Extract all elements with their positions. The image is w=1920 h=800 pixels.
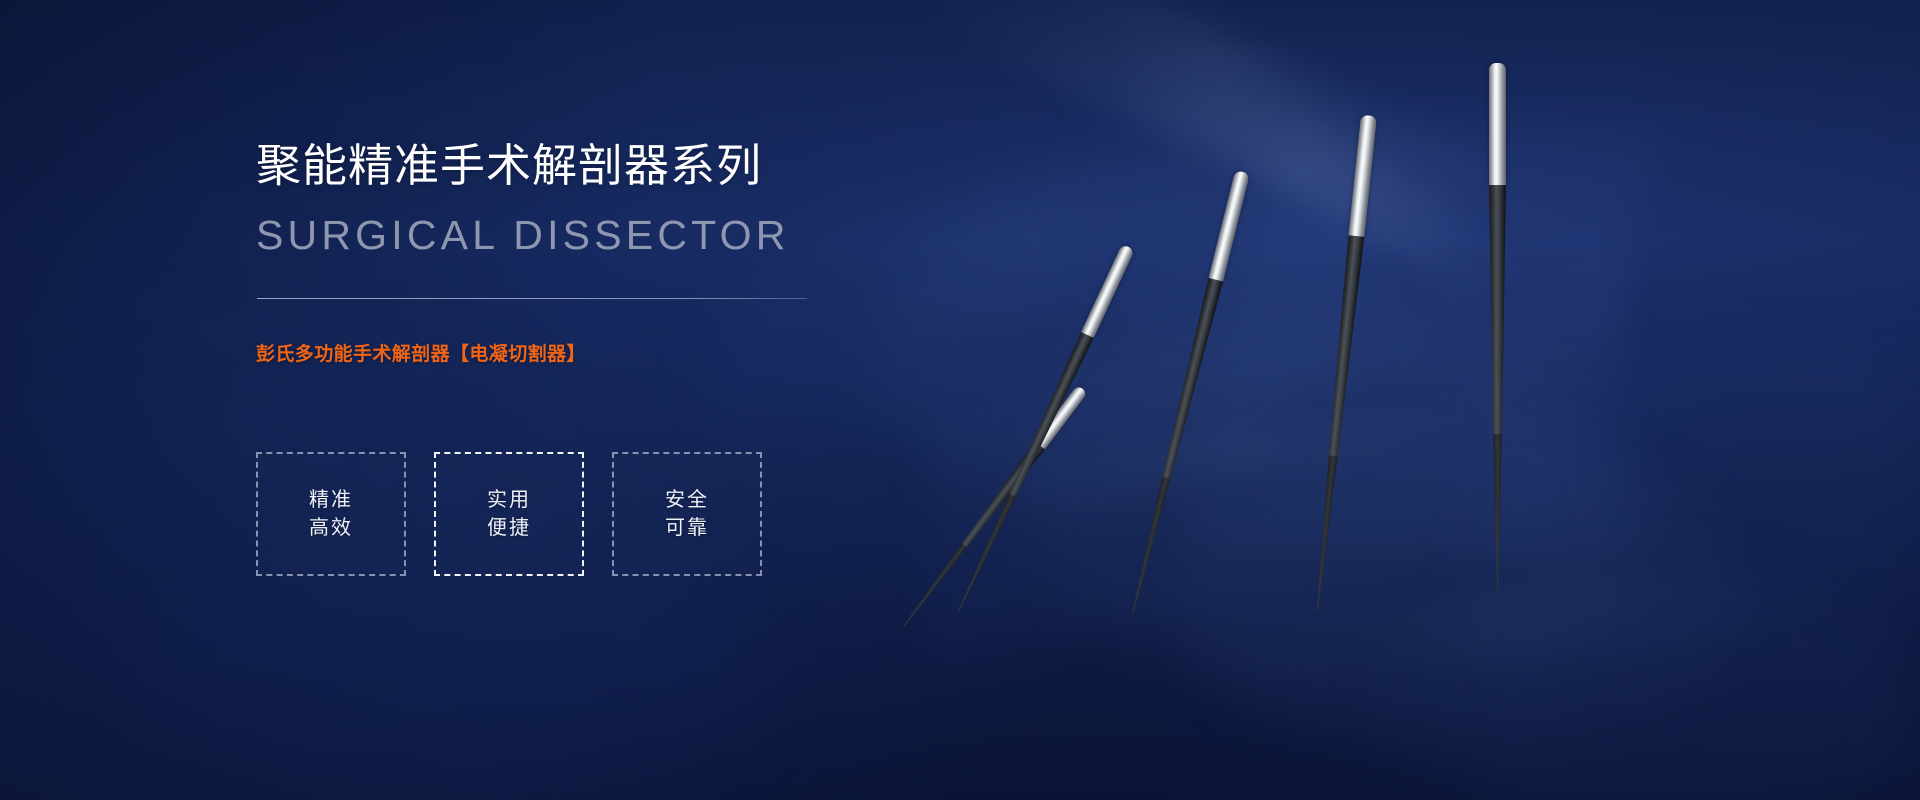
feature-box-precision[interactable]: 精准 高效 <box>256 452 406 576</box>
feature-line-2: 便捷 <box>487 514 531 542</box>
banner-content: 聚能精准手术解剖器系列 SURGICAL DISSECTOR 彭氏多功能手术解剖… <box>256 0 956 800</box>
instrument-tip <box>1489 434 1506 594</box>
instrument-4 <box>1303 114 1394 586</box>
feature-line-2: 高效 <box>309 514 353 542</box>
product-hero-banner: 聚能精准手术解剖器系列 SURGICAL DISSECTOR 彭氏多功能手术解剖… <box>0 0 1920 800</box>
feature-line-1: 实用 <box>487 486 531 514</box>
instrument-5 <box>1480 63 1522 553</box>
feature-line-2: 可靠 <box>665 514 709 542</box>
divider <box>257 298 807 299</box>
instrument-metal-grip <box>1208 170 1250 282</box>
instrument-shaft <box>1489 185 1506 435</box>
feature-box-practical[interactable]: 实用 便捷 <box>434 452 584 576</box>
instrument-shaft <box>1325 235 1364 457</box>
product-instruments-image <box>1150 0 1920 800</box>
feature-box-safety[interactable]: 安全 可靠 <box>612 452 762 576</box>
instrument-shaft <box>1159 278 1223 481</box>
page-subtitle-english: SURGICAL DISSECTOR <box>256 211 790 259</box>
feature-line-1: 安全 <box>665 486 709 514</box>
feature-box-group: 精准 高效 实用 便捷 安全 可靠 <box>256 452 762 576</box>
feature-line-1: 精准 <box>309 486 353 514</box>
product-name-label: 彭氏多功能手术解剖器【电凝切割器】 <box>256 339 586 366</box>
instrument-metal-grip <box>1348 115 1377 238</box>
page-title: 聚能精准手术解剖器系列 <box>256 139 762 194</box>
instrument-metal-grip <box>1489 63 1506 186</box>
instrument-tip <box>1309 455 1341 612</box>
